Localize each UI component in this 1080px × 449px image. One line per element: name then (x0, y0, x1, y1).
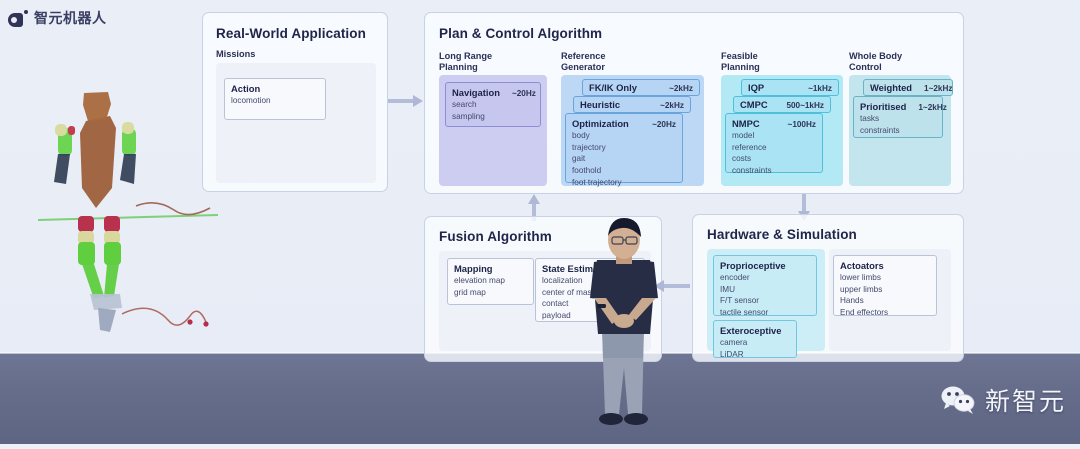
card-exteroceptive[interactable]: Exteroceptive camera LiDAR (713, 320, 797, 358)
card-actoators[interactable]: Actoators lower limbs upper limbs Hands … (833, 255, 937, 316)
watermark-text: 新智元 (985, 382, 1066, 418)
stage-floor (0, 353, 1080, 444)
card-fk-ik-only-name: FK/IK Only (589, 82, 637, 93)
panel-title-fusion: Fusion Algorithm (439, 229, 552, 244)
card-heuristic-freq: ~2kHz (656, 101, 684, 110)
card-optimization[interactable]: Optimization ~20Hz body trajectory gait … (565, 113, 683, 183)
panel-plan-control-algorithm: Plan & Control Algorithm Long Range Plan… (424, 12, 964, 194)
card-weighted-name: Weighted (870, 82, 912, 93)
card-navigation-items: search sampling (452, 99, 534, 122)
card-actoators-items: lower limbs upper limbs Hands End effect… (840, 272, 930, 319)
card-cmpc-freq: 500~1kHz (782, 101, 824, 110)
card-proprioceptive-items: encoder IMU F/T sensor tactile sensor (720, 272, 810, 319)
card-mapping-items: elevation map grid map (454, 275, 527, 298)
card-proprioceptive-name: Proprioceptive (720, 260, 786, 271)
card-heuristic[interactable]: Heuristic ~2kHz (573, 96, 691, 113)
arrow-realworld-to-plan (388, 95, 426, 107)
card-cmpc[interactable]: CMPC 500~1kHz (733, 96, 831, 113)
card-exteroceptive-name: Exteroceptive (720, 325, 782, 336)
card-mapping[interactable]: Mapping elevation map grid map (447, 258, 534, 305)
card-action[interactable]: Action locomotion (224, 78, 326, 120)
card-navigation-freq: ~20Hz (508, 89, 536, 98)
card-weighted-freq: 1~2kHz (920, 84, 952, 93)
panel-title-real-world: Real-World Application (216, 26, 366, 41)
presenter-person (572, 218, 678, 444)
card-optimization-freq: ~20Hz (648, 120, 676, 129)
card-iqp-name: IQP (748, 82, 764, 93)
panel-real-world-application: Real-World Application Missions Action l… (202, 12, 388, 192)
panel-hardware-simulation: Hardware & Simulation Proprioceptive enc… (692, 214, 964, 362)
column-label-long-range-planning: Long Range Planning (439, 51, 492, 73)
column-label-whole-body-control: Whole Body Control (849, 51, 902, 73)
card-prioritised-name: Prioritised (860, 101, 906, 112)
agibot-logo-icon (8, 10, 28, 27)
brand-name: 智元机器人 (34, 8, 107, 28)
card-navigation[interactable]: Navigation ~20Hz search sampling (445, 82, 541, 127)
card-action-items: locomotion (231, 95, 319, 107)
card-fk-ik-only[interactable]: FK/IK Only ~2kHz (582, 79, 700, 96)
card-nmpc-name: NMPC (732, 118, 760, 129)
card-proprioceptive[interactable]: Proprioceptive encoder IMU F/T sensor ta… (713, 255, 817, 316)
card-prioritised-freq: 1~2kHz (914, 103, 946, 112)
card-actoators-name: Actoators (840, 260, 884, 271)
card-optimization-name: Optimization (572, 118, 629, 129)
card-iqp-freq: ~1kHz (804, 84, 832, 93)
card-heuristic-name: Heuristic (580, 99, 620, 110)
wechat-icon (940, 385, 976, 415)
panel-title-hardware: Hardware & Simulation (707, 227, 857, 242)
card-action-name: Action (231, 83, 260, 94)
watermark: 新智元 (940, 382, 1066, 418)
card-fk-ik-only-freq: ~2kHz (665, 84, 693, 93)
card-navigation-name: Navigation (452, 87, 500, 98)
column-label-feasible-planning: Feasible Planning (721, 51, 760, 73)
column-label-reference-generator: Reference Generator (561, 51, 605, 73)
panel-title-plan-control: Plan & Control Algorithm (439, 26, 602, 41)
card-cmpc-name: CMPC (740, 99, 768, 110)
card-iqp[interactable]: IQP ~1kHz (741, 79, 839, 96)
card-nmpc-freq: ~100Hz (784, 120, 816, 129)
card-mapping-name: Mapping (454, 263, 493, 274)
robot-simulation-render (38, 88, 218, 343)
card-nmpc[interactable]: NMPC ~100Hz model reference costs constr… (725, 113, 823, 173)
sub-label-missions: Missions (216, 49, 255, 60)
brand-logo: 智元机器人 (8, 8, 107, 28)
card-weighted[interactable]: Weighted 1~2kHz (863, 79, 953, 96)
card-prioritised[interactable]: Prioritised 1~2kHz tasks constraints (853, 96, 943, 138)
card-nmpc-items: model reference costs constraints (732, 130, 816, 177)
card-exteroceptive-items: camera LiDAR (720, 337, 790, 360)
card-prioritised-items: tasks constraints (860, 113, 936, 136)
card-optimization-items: body trajectory gait foothold foot traje… (572, 130, 676, 188)
